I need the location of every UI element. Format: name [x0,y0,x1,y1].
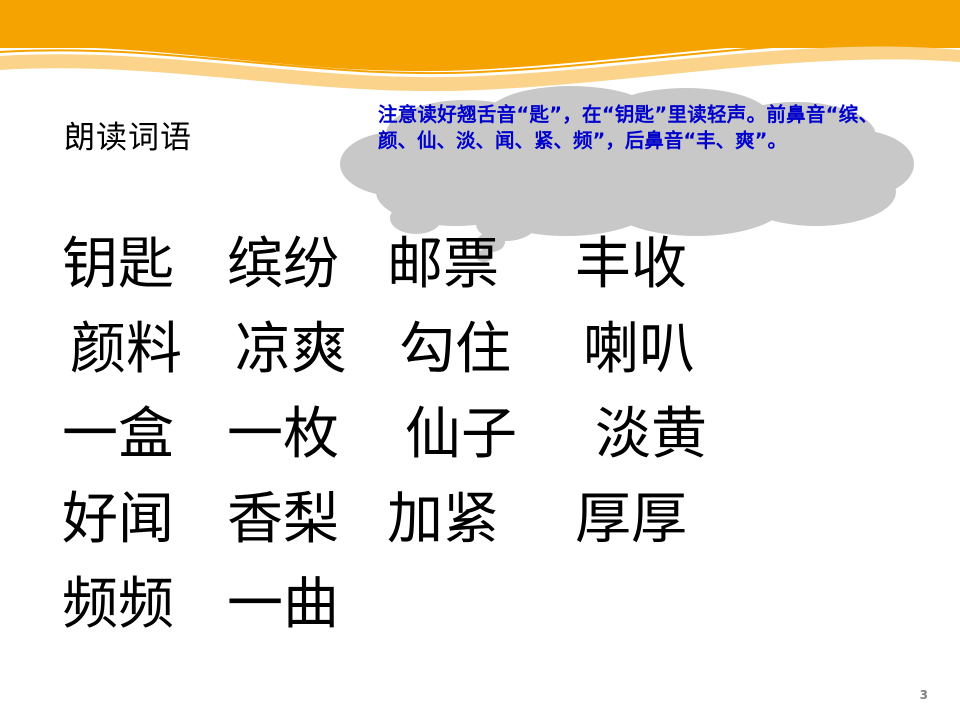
word-cell: 凉爽 [235,322,395,378]
word-cell: 频频 [0,577,227,633]
word-cell: 加紧 [387,492,567,548]
word-cell: 淡黄 [585,407,795,463]
word-row: 好闻 香梨 加紧 厚厚 [0,477,960,562]
word-cell: 勾住 [395,322,579,378]
word-row: 钥匙 缤纷 邮票 丰收 [0,222,960,307]
word-cell: 厚厚 [567,492,775,548]
word-cell: 好闻 [0,492,227,548]
word-cell: 邮票 [387,237,567,293]
word-list: 钥匙 缤纷 邮票 丰收 颜料 凉爽 勾住 喇叭 一盒 一枚 仙子 淡黄 好闻 香… [0,222,960,647]
word-cell: 一曲 [227,577,387,633]
word-row: 频频 一曲 [0,562,960,647]
word-cell: 喇叭 [579,322,783,378]
word-row: 颜料 凉爽 勾住 喇叭 [0,307,960,392]
word-cell: 仙子 [387,407,585,463]
word-cell: 一盒 [0,407,227,463]
thought-cloud-text: 注意读好翘舌音“匙”，在“钥匙”里读轻声。前鼻音“缤、颜、仙、淡、闻、紧、频”，… [378,102,878,154]
page-number: 3 [920,688,928,702]
word-cell: 颜料 [0,322,235,378]
page-title: 朗读词语 [64,112,192,157]
word-cell: 缤纷 [227,237,387,293]
top-decorative-banner [0,0,960,96]
word-cell: 香梨 [227,492,387,548]
word-row: 一盒 一枚 仙子 淡黄 [0,392,960,477]
word-cell: 一枚 [227,407,387,463]
word-cell: 钥匙 [0,237,227,293]
word-cell: 丰收 [567,237,775,293]
